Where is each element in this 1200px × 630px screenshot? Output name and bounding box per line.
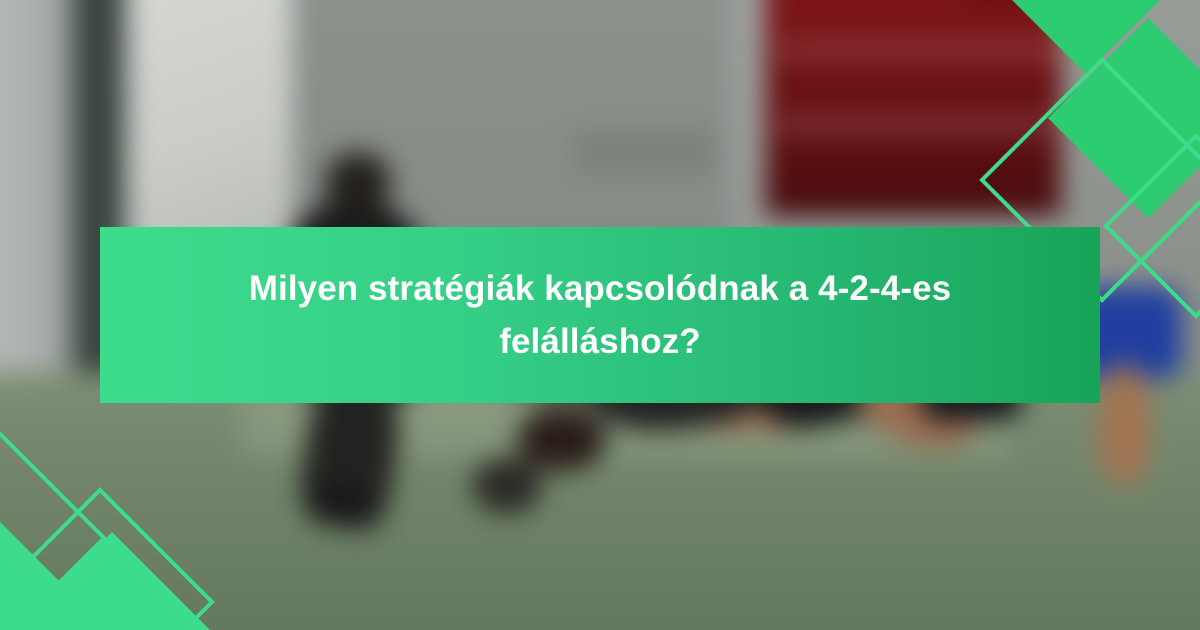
background-wall-sign bbox=[574, 130, 715, 173]
background-left-panel bbox=[0, 0, 75, 400]
player-two-head bbox=[517, 407, 607, 471]
player-four-leg bbox=[1099, 365, 1150, 486]
background-red-crates bbox=[766, 0, 1073, 216]
title-banner: Milyen stratégiák kapcsolódnak a 4-2-4-e… bbox=[100, 227, 1100, 403]
page-title: Milyen stratégiák kapcsolódnak a 4-2-4-e… bbox=[146, 262, 1054, 368]
football bbox=[472, 457, 542, 514]
share-card: Milyen stratégiák kapcsolódnak a 4-2-4-e… bbox=[0, 0, 1200, 630]
player-one-head bbox=[325, 152, 392, 212]
player-one-shoe bbox=[312, 485, 370, 517]
